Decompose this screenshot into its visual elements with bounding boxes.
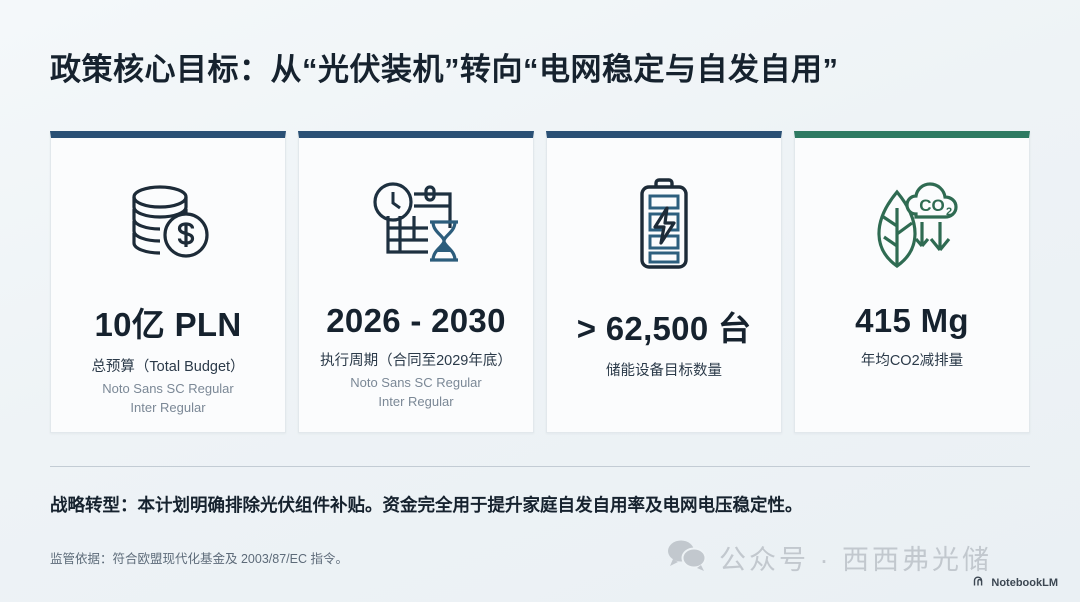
slide-canvas: 政策核心目标：从“光伏装机”转向“电网稳定与自发自用” 10亿 PLN 总预算（… <box>0 0 1080 602</box>
metric-card-storage[interactable]: > 62,500 台 储能设备目标数量 <box>546 131 782 433</box>
font-note-secondary: Inter Regular <box>378 393 453 412</box>
metric-caption: 储能设备目标数量 <box>606 359 722 380</box>
regulatory-footnote: 监管依据：符合欧盟现代化基金及 2003/87/EC 指令。 <box>50 548 348 567</box>
font-note-primary: Noto Sans SC Regular <box>102 380 234 399</box>
metric-card-timeline[interactable]: 2026 - 2030 执行周期（合同至2029年底） Noto Sans SC… <box>298 131 534 433</box>
metric-caption: 执行周期（合同至2029年底） <box>320 349 512 370</box>
wechat-icon <box>667 539 707 576</box>
metric-caption: 年均CO2减排量 <box>861 349 963 370</box>
coin-stack-dollar-icon <box>61 172 275 272</box>
metric-caption: 总预算（Total Budget） <box>91 355 244 376</box>
leaf-co2-reduction-icon: CO 2 <box>805 172 1019 276</box>
metric-card-budget[interactable]: 10亿 PLN 总预算（Total Budget） Noto Sans SC R… <box>50 131 286 433</box>
strategy-statement: 战略转型：本计划明确排除光伏组件补贴。资金完全用于提升家庭自发自用率及电网电压稳… <box>50 492 803 517</box>
font-note-primary: Noto Sans SC Regular <box>350 374 482 393</box>
metric-value: 415 Mg <box>855 302 969 340</box>
watermark-text: 公众号 · 西西弗光储 <box>719 538 992 577</box>
font-note-secondary: Inter Regular <box>130 399 205 418</box>
section-divider <box>50 466 1030 467</box>
svg-text:2: 2 <box>946 206 952 218</box>
metric-value: 10亿 PLN <box>95 298 242 346</box>
page-title: 政策核心目标：从“光伏装机”转向“电网稳定与自发自用” <box>50 44 839 89</box>
metric-card-row: 10亿 PLN 总预算（Total Budget） Noto Sans SC R… <box>50 131 1030 433</box>
battery-charge-icon <box>557 172 771 276</box>
svg-text:CO: CO <box>919 196 945 215</box>
metric-card-co2[interactable]: CO 2 415 Mg 年均CO2减排量 <box>794 131 1030 433</box>
calendar-clock-hourglass-icon <box>309 172 523 276</box>
watermark: 公众号 · 西西弗光储 <box>667 538 992 577</box>
notebooklm-label: NotebookLM <box>991 577 1058 589</box>
notebooklm-icon <box>973 576 986 590</box>
metric-value: 2026 - 2030 <box>326 302 505 340</box>
notebooklm-badge: NotebookLM <box>973 576 1058 590</box>
metric-value: > 62,500 台 <box>577 302 752 350</box>
